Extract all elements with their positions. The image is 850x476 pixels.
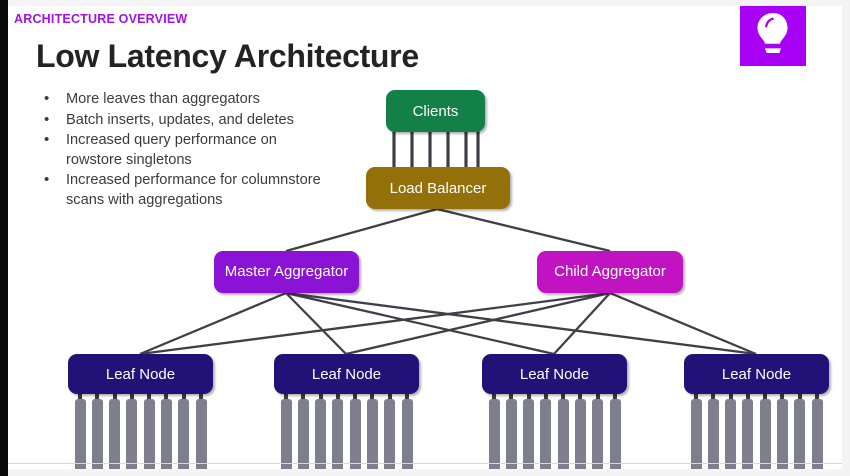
leaf-disk <box>126 399 137 469</box>
node-label: Leaf Node <box>520 366 589 383</box>
leaf-disk <box>506 399 517 469</box>
node-master-aggregator[interactable]: Master Aggregator <box>214 251 359 293</box>
slide-content-area: ARCHITECTURE OVERVIEW Low Latency Archit… <box>8 6 842 469</box>
leaf-disk <box>109 399 120 469</box>
leaf-disk <box>144 399 155 469</box>
node-label: Leaf Node <box>722 366 791 383</box>
leaf-disk <box>523 399 534 469</box>
leaf-disk <box>540 399 551 469</box>
leaf-disk <box>350 399 361 469</box>
leaf-disk <box>298 399 309 469</box>
node-leaf-3[interactable]: Leaf Node <box>482 354 627 394</box>
leaf-disk <box>610 399 621 469</box>
leaf-disk <box>75 399 86 469</box>
leaf-disk <box>367 399 378 469</box>
leaf-disk <box>178 399 189 469</box>
leaf-disk <box>708 399 719 469</box>
node-leaf-1[interactable]: Leaf Node <box>68 354 213 394</box>
leaf-disk <box>558 399 569 469</box>
leaf-disk <box>384 399 395 469</box>
edge-group-master-to-leaves <box>140 293 756 354</box>
edge-group-lb-to-aggregators <box>286 209 610 251</box>
leaf-disk <box>161 399 172 469</box>
edge-group-child-to-leaves <box>140 293 756 354</box>
node-label: Leaf Node <box>106 366 175 383</box>
slide-bottom-divider <box>8 463 842 464</box>
node-child-aggregator[interactable]: Child Aggregator <box>537 251 683 293</box>
slide-left-edge <box>0 0 8 476</box>
node-load-balancer[interactable]: Load Balancer <box>366 167 510 209</box>
leaf-disk <box>742 399 753 469</box>
leaf-disk <box>760 399 771 469</box>
leaf-disk <box>281 399 292 469</box>
leaf-disk <box>592 399 603 469</box>
leaf-disk <box>92 399 103 469</box>
node-leaf-2[interactable]: Leaf Node <box>274 354 419 394</box>
leaf-disk <box>812 399 823 469</box>
node-label: Clients <box>413 103 459 120</box>
node-label: Load Balancer <box>390 180 487 197</box>
leaf-disk <box>794 399 805 469</box>
slide-canvas: ARCHITECTURE OVERVIEW Low Latency Archit… <box>0 0 850 476</box>
leaf-disk <box>402 399 413 469</box>
leaf-disk <box>575 399 586 469</box>
leaf-disk <box>196 399 207 469</box>
node-label: Child Aggregator <box>554 263 666 281</box>
node-leaf-4[interactable]: Leaf Node <box>684 354 829 394</box>
node-label: Leaf Node <box>312 366 381 383</box>
leaf-disk <box>725 399 736 469</box>
leaf-disk <box>691 399 702 469</box>
leaf-disk <box>315 399 326 469</box>
node-label: Master Aggregator <box>225 263 348 281</box>
leaf-disk <box>777 399 788 469</box>
node-clients[interactable]: Clients <box>386 90 485 132</box>
leaf-disk <box>489 399 500 469</box>
leaf-disk <box>332 399 343 469</box>
